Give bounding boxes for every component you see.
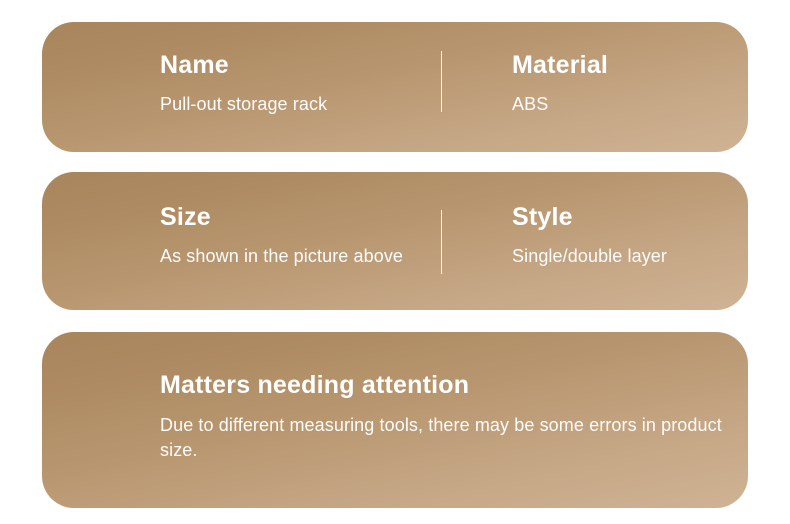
- spec-field-size: Size As shown in the picture above: [160, 202, 422, 268]
- spec-label-name: Name: [160, 50, 422, 80]
- spec-field-name: Name Pull-out storage rack: [160, 50, 422, 116]
- spec-label-size: Size: [160, 202, 422, 232]
- spec-field-style: Style Single/double layer: [512, 202, 748, 268]
- spec-field-material: Material ABS: [512, 50, 748, 116]
- spec-value-material: ABS: [512, 92, 748, 116]
- spec-value-style: Single/double layer: [512, 244, 748, 268]
- spec-label-material: Material: [512, 50, 748, 80]
- spec-card-name-material: Name Pull-out storage rack Material ABS: [42, 22, 748, 152]
- column-divider: [441, 210, 442, 274]
- notice-title: Matters needing attention: [160, 370, 740, 400]
- spec-label-style: Style: [512, 202, 748, 232]
- spec-card-size-style: Size As shown in the picture above Style…: [42, 172, 748, 310]
- notice-text: Due to different measuring tools, there …: [160, 413, 740, 463]
- spec-card-notice: Matters needing attention Due to differe…: [42, 332, 748, 508]
- card-columns: Size As shown in the picture above Style…: [42, 172, 748, 310]
- column-divider: [441, 51, 442, 112]
- notice-block: Matters needing attention Due to differe…: [160, 370, 740, 463]
- card-columns: Name Pull-out storage rack Material ABS: [42, 22, 748, 152]
- product-spec-sheet: Name Pull-out storage rack Material ABS …: [0, 0, 790, 524]
- spec-value-size: As shown in the picture above: [160, 244, 422, 268]
- spec-value-name: Pull-out storage rack: [160, 92, 422, 116]
